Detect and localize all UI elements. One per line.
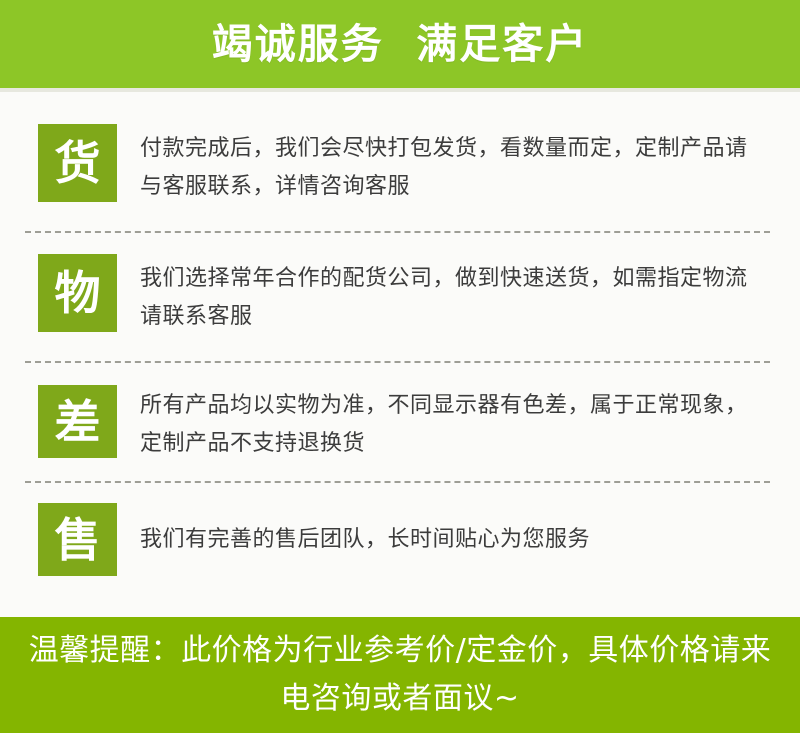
service-item-cha: 差 所有产品均以实物为准，不同显示器有色差，属于正常现象，定制产品不支持退换货 [0,363,800,481]
service-item-text-cha: 所有产品均以实物为准，不同显示器有色差，属于正常现象，定制产品不支持退换货 [140,385,760,463]
service-item-text-shou: 我们有完善的售后团队，长时间贴心为您服务 [140,503,590,559]
badge-huo: 货 [38,124,117,202]
service-item-shou: 售 我们有完善的售后团队，长时间贴心为您服务 [0,483,800,596]
header-banner: 竭诚服务 满足客户 [0,0,800,88]
badge-wu: 物 [38,254,117,332]
service-item-huo: 货 付款完成后，我们会尽快打包发货，看数量而定，定制产品请与客服联系，详情咨询客… [0,92,800,231]
footer-notice-text: 温馨提醒：此价格为行业参考价/定金价，具体价格请来电咨询或者面议~ [18,627,782,723]
service-item-text-wu: 我们选择常年合作的配货公司，做到快速送货，如需指定物流请联系客服 [140,254,760,336]
badge-cha: 差 [38,385,117,458]
badge-shou: 售 [38,503,117,576]
service-item-text-huo: 付款完成后，我们会尽快打包发货，看数量而定，定制产品请与客服联系，详情咨询客服 [140,124,760,206]
service-item-wu: 物 我们选择常年合作的配货公司，做到快速送货，如需指定物流请联系客服 [0,233,800,361]
service-list: 货 付款完成后，我们会尽快打包发货，看数量而定，定制产品请与客服联系，详情咨询客… [0,92,800,596]
footer-notice-banner: 温馨提醒：此价格为行业参考价/定金价，具体价格请来电咨询或者面议~ [0,617,800,733]
page-title: 竭诚服务 满足客户 [212,24,589,65]
